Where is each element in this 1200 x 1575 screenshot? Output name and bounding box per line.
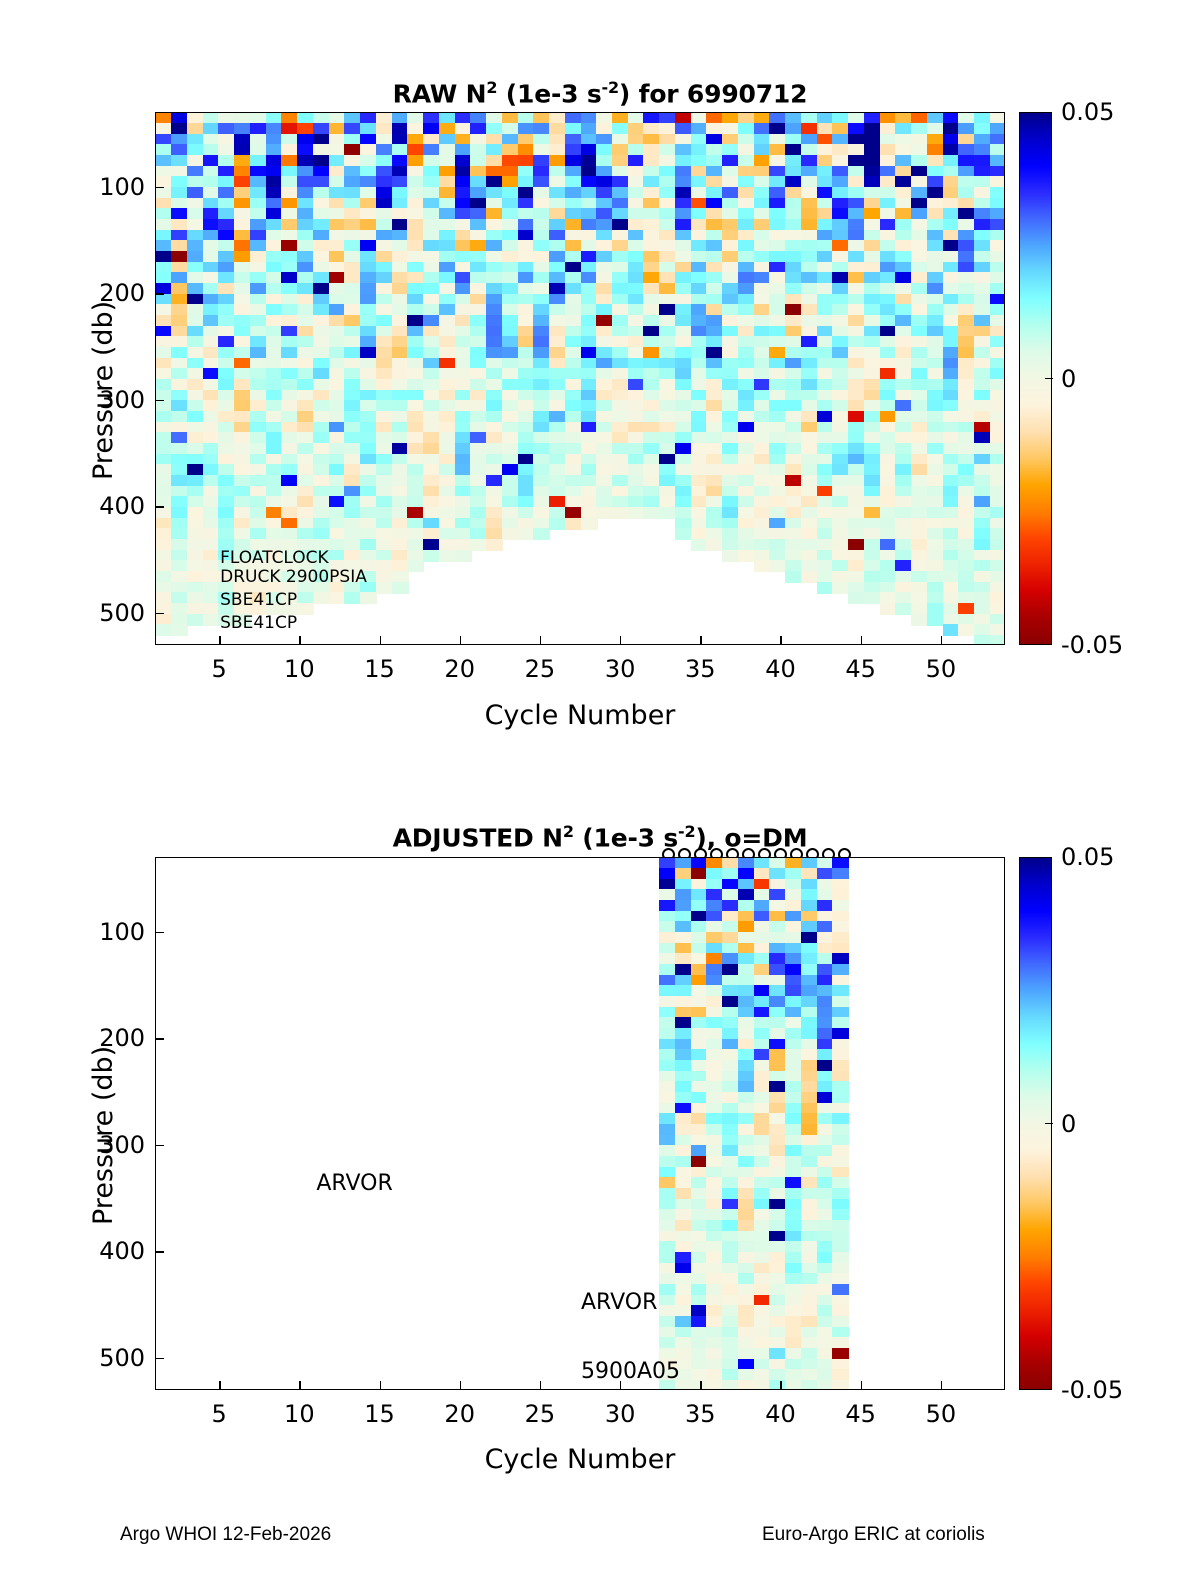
x-tickmark xyxy=(540,1381,541,1390)
y-tickmark xyxy=(155,506,164,507)
x-tick-label: 50 xyxy=(926,655,957,683)
adj-title-sup1: 2 xyxy=(563,822,574,841)
x-tickmark xyxy=(861,636,862,645)
y-tickmark xyxy=(155,1038,164,1039)
raw-x-axis-label: Cycle Number xyxy=(155,700,1005,731)
adjusted-n2-panel: ADJUSTED N2 (1e-3 s-2), o=DM ARVORARVOR5… xyxy=(0,760,1200,1520)
plot-annotation: SBE41CP xyxy=(220,590,297,610)
raw-title-sup2: -2 xyxy=(602,78,619,97)
raw-y-axis-label: Pressure (db) xyxy=(88,301,119,480)
x-tick-label: 40 xyxy=(765,1400,796,1428)
y-tick-label: 400 xyxy=(83,1237,145,1265)
y-tickmark xyxy=(155,1251,164,1252)
x-tick-label: 45 xyxy=(845,655,876,683)
plot-annotation: SBE41CP xyxy=(220,613,297,633)
colorbar-tick-label: 0 xyxy=(1061,1110,1076,1138)
colorbar-tick-label: -0.05 xyxy=(1061,631,1123,659)
x-tick-label: 45 xyxy=(845,1400,876,1428)
footer-right-credit: Euro-Argo ERIC at coriolis xyxy=(762,1524,985,1546)
raw-title-suffix: ) for 6990712 xyxy=(619,79,807,108)
y-tickmark xyxy=(155,293,164,294)
adj-title-prefix: ADJUSTED N xyxy=(393,823,563,852)
plot-annotation: ARVOR xyxy=(581,1290,657,1315)
x-tickmark xyxy=(780,1381,781,1390)
adjusted-y-axis-label: Pressure (db) xyxy=(88,1046,119,1225)
y-tickmark xyxy=(155,400,164,401)
x-tickmark xyxy=(700,1381,701,1390)
colorbar-tickmark xyxy=(1045,378,1053,380)
raw-heatmap-axes[interactable]: FLOATCLOCKDRUCK 2900PSIASBE41CPSBE41CP xyxy=(155,112,1005,645)
raw-title-mid: (1e-3 s xyxy=(497,79,601,108)
colorbar-tickmark xyxy=(1045,1123,1053,1125)
raw-plot-title: RAW N2 (1e-3 s-2) for 6990712 xyxy=(0,78,1200,108)
colorbar-tick-label: -0.05 xyxy=(1061,1376,1123,1404)
y-tickmark xyxy=(155,613,164,614)
raw-title-prefix: RAW N xyxy=(393,79,487,108)
x-tick-label: 20 xyxy=(444,1400,475,1428)
x-tick-label: 30 xyxy=(605,1400,636,1428)
adjusted-plot-title: ADJUSTED N2 (1e-3 s-2), o=DM xyxy=(0,822,1200,852)
plot-annotation: DRUCK 2900PSIA xyxy=(220,567,367,587)
x-tick-label: 35 xyxy=(685,1400,716,1428)
x-tickmark xyxy=(620,1381,621,1390)
adj-title-sup2: -2 xyxy=(678,822,695,841)
x-tick-label: 30 xyxy=(605,655,636,683)
x-tick-label: 10 xyxy=(284,1400,315,1428)
x-tickmark xyxy=(380,636,381,645)
adjusted-heatmap-axes[interactable]: ARVORARVOR5900A05 xyxy=(155,857,1005,1390)
x-tick-label: 5 xyxy=(212,1400,227,1428)
x-tick-label: 10 xyxy=(284,655,315,683)
y-tick-label: 400 xyxy=(83,492,145,520)
raw-n2-panel: RAW N2 (1e-3 s-2) for 6990712 FLOATCLOCK… xyxy=(0,0,1200,760)
y-tickmark xyxy=(155,1145,164,1146)
x-tick-label: 15 xyxy=(364,1400,395,1428)
y-tick-label: 100 xyxy=(83,918,145,946)
x-tickmark xyxy=(941,1381,942,1390)
y-tickmark xyxy=(155,1358,164,1359)
x-tick-label: 50 xyxy=(926,1400,957,1428)
x-tickmark xyxy=(941,636,942,645)
plot-annotation: ARVOR xyxy=(316,1171,392,1196)
x-tickmark xyxy=(380,1381,381,1390)
x-tick-label: 35 xyxy=(685,655,716,683)
colorbar-tick-label: 0.05 xyxy=(1061,98,1114,126)
x-tick-label: 5 xyxy=(212,655,227,683)
x-tickmark xyxy=(620,636,621,645)
plot-annotation: 5900A05 xyxy=(581,1359,680,1384)
adj-title-mid: (1e-3 s xyxy=(574,823,678,852)
x-tick-label: 25 xyxy=(525,655,556,683)
x-tickmark xyxy=(540,636,541,645)
y-tick-label: 500 xyxy=(83,1344,145,1372)
footer-left-credit: Argo WHOI 12-Feb-2026 xyxy=(120,1524,331,1546)
x-tickmark xyxy=(299,636,300,645)
x-tick-label: 20 xyxy=(444,655,475,683)
x-tickmark xyxy=(460,1381,461,1390)
y-tick-label: 500 xyxy=(83,599,145,627)
y-tick-label: 100 xyxy=(83,173,145,201)
x-tickmark xyxy=(861,1381,862,1390)
x-tick-label: 40 xyxy=(765,655,796,683)
x-tickmark xyxy=(219,636,220,645)
x-tickmark xyxy=(219,1381,220,1390)
raw-title-sup1: 2 xyxy=(486,78,497,97)
plot-annotation: FLOATCLOCK xyxy=(220,548,329,568)
x-tickmark xyxy=(700,636,701,645)
y-tickmark xyxy=(155,187,164,188)
x-tickmark xyxy=(299,1381,300,1390)
colorbar-tick-label: 0.05 xyxy=(1061,843,1114,871)
y-tickmark xyxy=(155,932,164,933)
x-tickmark xyxy=(460,636,461,645)
x-tick-label: 25 xyxy=(525,1400,556,1428)
adjusted-x-axis-label: Cycle Number xyxy=(155,1444,1005,1475)
x-tick-label: 15 xyxy=(364,655,395,683)
colorbar-tick-label: 0 xyxy=(1061,365,1076,393)
x-tickmark xyxy=(780,636,781,645)
